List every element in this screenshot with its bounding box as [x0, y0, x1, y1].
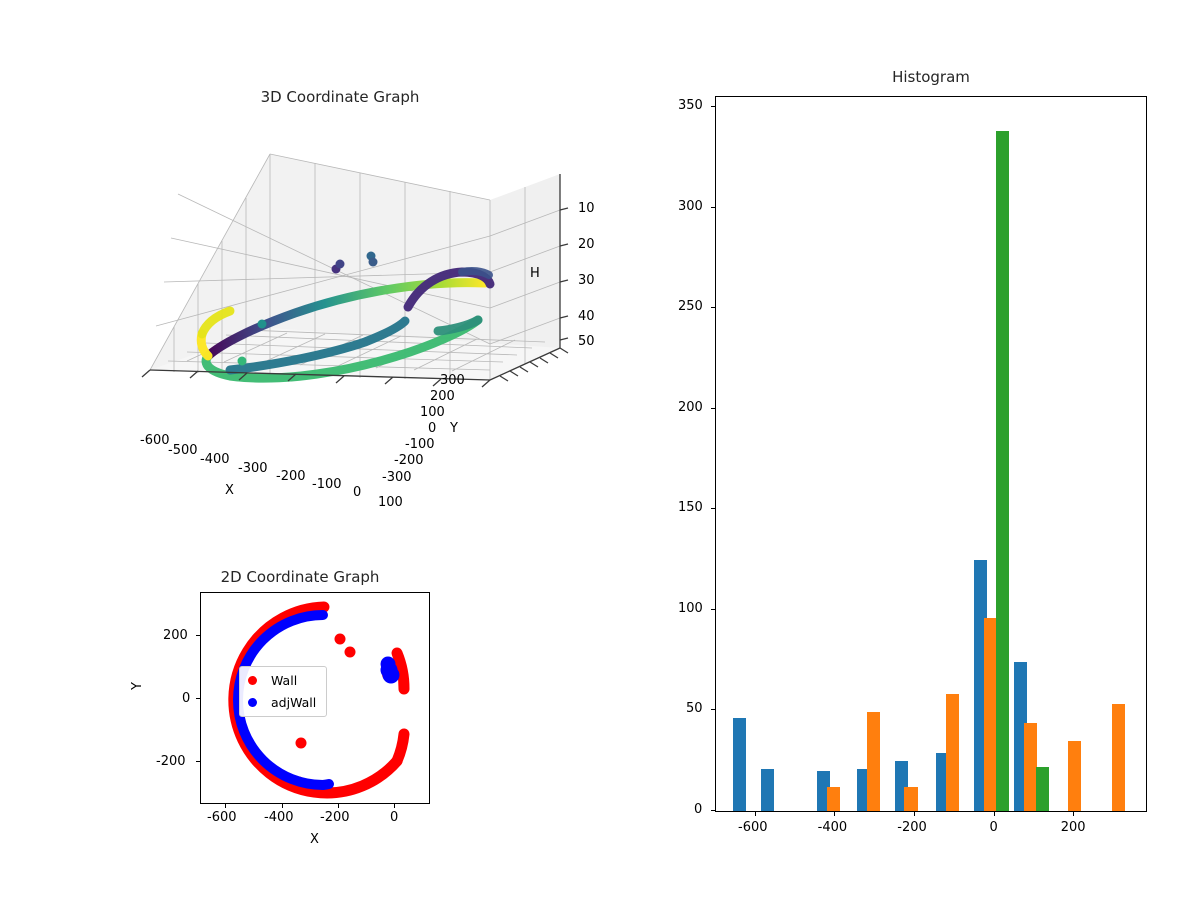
- ytick-mark-histogram: [711, 408, 715, 409]
- xaxis-label-3d: X: [225, 483, 234, 498]
- xtick-mark-2d: [282, 804, 283, 808]
- legend-marker-wall: [248, 676, 257, 685]
- xtick-3d: -200: [276, 469, 306, 484]
- xtick-2d: -200: [320, 810, 350, 825]
- ztick-3d: 30: [578, 273, 595, 288]
- axes-3d-coordinate-graph: 3D Coordinate Graph: [90, 80, 590, 540]
- ytick-3d: 100: [420, 405, 445, 420]
- ytick-histogram: 200: [678, 400, 703, 415]
- plot-area-3d: -600 -500 -400 -300 -200 -100 0 100 X -3…: [90, 80, 590, 540]
- histogram-bar: [1036, 767, 1049, 811]
- ytick-mark-2d: [196, 635, 200, 636]
- legend-marker-adjwall: [248, 698, 257, 707]
- ytick-histogram: 150: [678, 500, 703, 515]
- xtick-3d: -600: [140, 433, 170, 448]
- legend-label-adjwall: adjWall: [271, 695, 316, 710]
- xtick-2d: 0: [390, 810, 398, 825]
- xtick-3d: 100: [378, 495, 403, 510]
- xtick-3d: -300: [238, 461, 268, 476]
- ytick-histogram: 50: [686, 701, 703, 716]
- ytick-3d: -200: [394, 453, 424, 468]
- xtick-histogram: -600: [738, 820, 768, 835]
- xtick-3d: 0: [353, 485, 361, 500]
- ytick-2d: -200: [156, 754, 186, 769]
- xtick-mark-2d: [225, 804, 226, 808]
- histogram-bar: [867, 712, 880, 811]
- xtick-mark-2d: [394, 804, 395, 808]
- ytick-3d: 300: [440, 373, 465, 388]
- xtick-2d: -600: [207, 810, 237, 825]
- histogram-bar: [946, 694, 959, 811]
- xtick-3d: -400: [200, 452, 230, 467]
- ytick-mark-histogram: [711, 207, 715, 208]
- axes-2d-coordinate-graph: 2D Coordinate Graph: [130, 560, 460, 860]
- ytick-2d: 200: [163, 628, 188, 643]
- ytick-histogram: 350: [678, 98, 703, 113]
- yaxis-label-3d: Y: [450, 421, 458, 436]
- xtick-histogram: 0: [990, 820, 998, 835]
- histogram-bar: [733, 718, 746, 811]
- yaxis-label-2d: Y: [130, 682, 145, 690]
- ztick-3d: 40: [578, 309, 595, 324]
- plot-3d-svg: [90, 80, 590, 540]
- ytick-histogram: 0: [694, 802, 702, 817]
- ytick-histogram: 100: [678, 601, 703, 616]
- legend-item-wall[interactable]: Wall: [248, 673, 316, 688]
- legend-item-adjwall[interactable]: adjWall: [248, 695, 316, 710]
- ytick-2d: 0: [182, 691, 190, 706]
- xtick-mark-2d: [338, 804, 339, 808]
- xtick-histogram: -200: [897, 820, 927, 835]
- ytick-mark-histogram: [711, 810, 715, 811]
- legend-label-wall: Wall: [271, 673, 297, 688]
- legend-2d: Wall adjWall: [239, 666, 327, 717]
- ytick-mark-histogram: [711, 709, 715, 710]
- xtick-3d: -500: [168, 443, 198, 458]
- ytick-3d: 200: [430, 389, 455, 404]
- xtick-3d: -100: [312, 477, 342, 492]
- xtick-mark-histogram: [914, 812, 915, 816]
- histogram-bar: [1068, 741, 1081, 811]
- xtick-histogram: -400: [818, 820, 848, 835]
- ytick-mark-histogram: [711, 609, 715, 610]
- histogram-bar: [904, 787, 917, 811]
- ztick-3d: 50: [578, 334, 595, 349]
- histogram-bar: [996, 131, 1009, 811]
- xtick-2d: -400: [264, 810, 294, 825]
- ytick-mark-histogram: [711, 508, 715, 509]
- matplotlib-figure: 3D Coordinate Graph: [0, 0, 1200, 900]
- xtick-mark-histogram: [1073, 812, 1074, 816]
- ytick-histogram: 300: [678, 199, 703, 214]
- plot-area-histogram: [715, 96, 1147, 812]
- axes-histogram: Histogram 050100150200250300350 -600-400…: [660, 60, 1200, 860]
- ytick-mark-histogram: [711, 106, 715, 107]
- histogram-bar: [827, 787, 840, 811]
- ytick-histogram: 250: [678, 299, 703, 314]
- xtick-histogram: 200: [1061, 820, 1086, 835]
- zaxis-label-3d: H: [530, 266, 540, 281]
- ytick-3d: -100: [405, 437, 435, 452]
- ytick-mark-2d: [196, 761, 200, 762]
- plot-area-2d: Wall adjWall: [200, 592, 430, 804]
- histogram-bar: [761, 769, 774, 811]
- xtick-mark-histogram: [994, 812, 995, 816]
- chart-title-histogram: Histogram: [715, 68, 1147, 86]
- ytick-mark-histogram: [711, 307, 715, 308]
- xaxis-label-2d: X: [310, 832, 319, 847]
- histogram-bar: [1112, 704, 1125, 811]
- ytick-3d: 0: [428, 421, 436, 436]
- ztick-3d: 20: [578, 237, 595, 252]
- histogram-bars: [716, 97, 1146, 811]
- chart-title-2d: 2D Coordinate Graph: [170, 568, 430, 586]
- ytick-3d: -300: [382, 470, 412, 485]
- xtick-mark-histogram: [755, 812, 756, 816]
- ytick-mark-2d: [196, 698, 200, 699]
- ztick-3d: 10: [578, 201, 595, 216]
- xtick-mark-histogram: [834, 812, 835, 816]
